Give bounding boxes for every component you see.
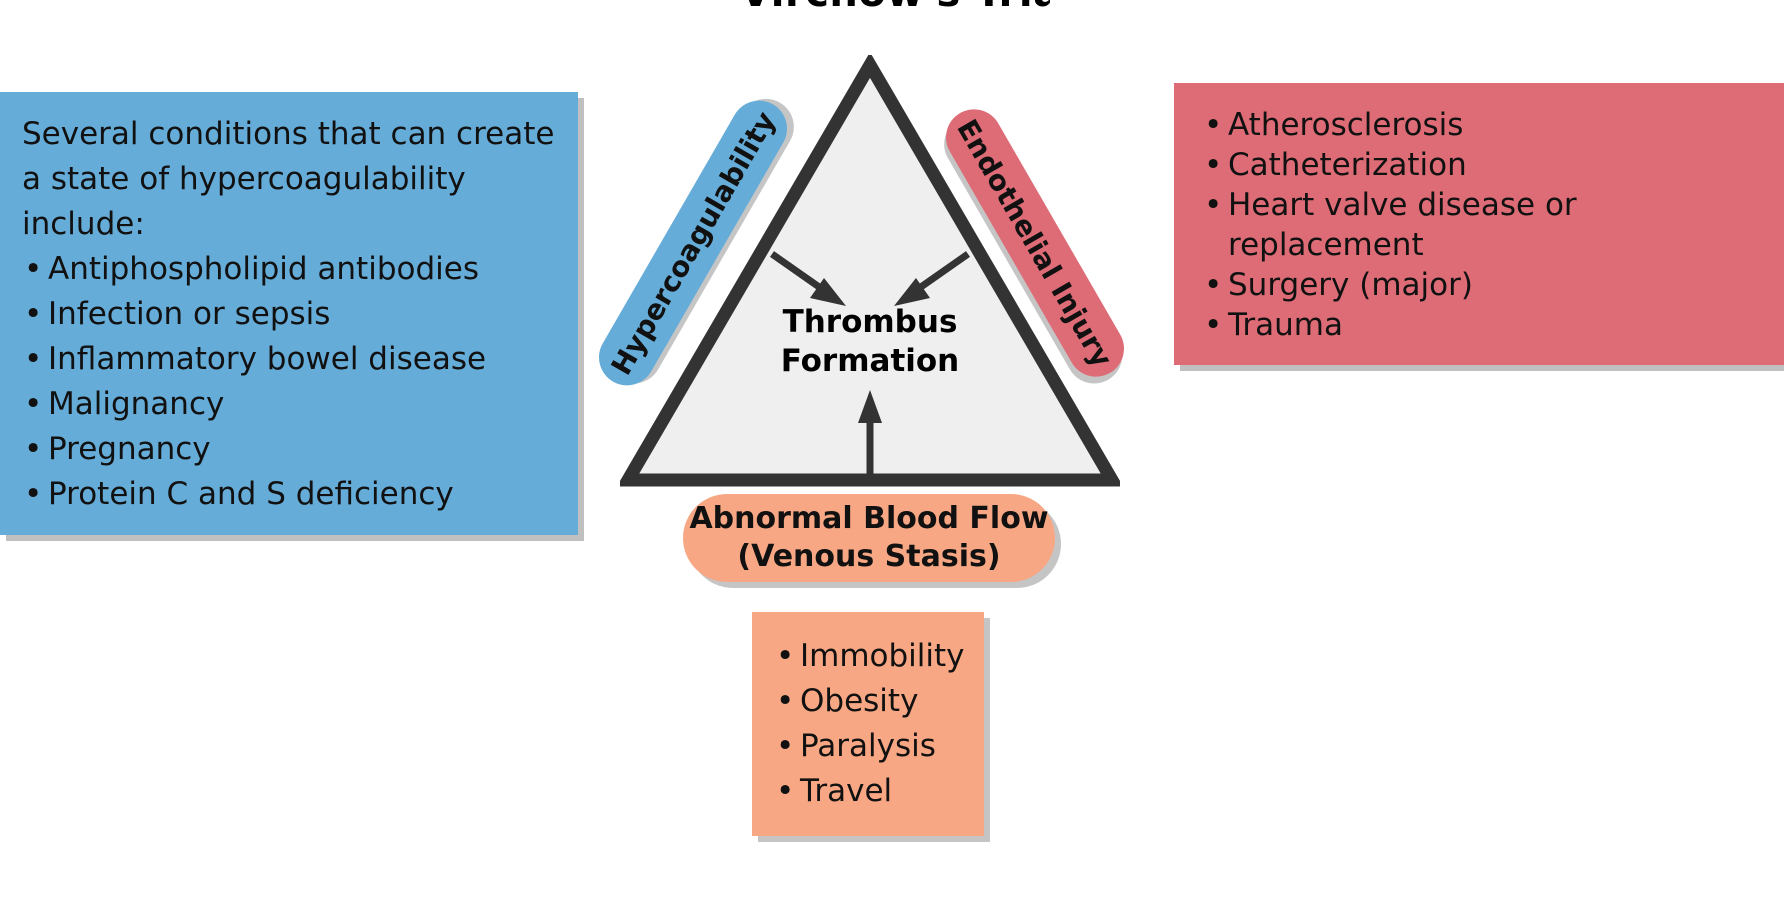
- bullet-icon: •: [1204, 305, 1222, 345]
- panel-hypercoagulability-lead: Several conditions that can create a sta…: [22, 112, 564, 247]
- list-item-label: Surgery (major): [1228, 267, 1473, 303]
- bullet-icon: •: [1204, 265, 1222, 305]
- list-item: •Heart valve disease or replacement: [1202, 185, 1770, 265]
- list-item: •Paralysis: [774, 724, 974, 769]
- list-item-label: Atherosclerosis: [1228, 107, 1463, 143]
- panel-endothelial-injury: •Atherosclerosis •Catheterization •Heart…: [1174, 83, 1784, 365]
- list-item-label: Infection or sepsis: [48, 296, 330, 332]
- list-item: •Immobility: [774, 634, 974, 679]
- list-item-label: Travel: [800, 773, 892, 809]
- list-item: •Pregnancy: [22, 427, 564, 472]
- list-item: •Malignancy: [22, 382, 564, 427]
- bullet-icon: •: [776, 769, 794, 814]
- list-item-label: Obesity: [800, 683, 918, 719]
- list-item: •Protein C and S deficiency: [22, 472, 564, 517]
- bullet-icon: •: [24, 382, 42, 427]
- bullet-icon: •: [776, 679, 794, 724]
- panel-blood-flow-list: •Immobility •Obesity •Paralysis •Travel: [774, 634, 974, 814]
- panel-endothelial-injury-list: •Atherosclerosis •Catheterization •Heart…: [1202, 105, 1770, 345]
- list-item: •Infection or sepsis: [22, 292, 564, 337]
- list-item: •Travel: [774, 769, 974, 814]
- list-item-label: Trauma: [1228, 307, 1343, 343]
- list-item: •Trauma: [1202, 305, 1770, 345]
- panel-endothelial-injury-body: •Atherosclerosis •Catheterization •Heart…: [1202, 105, 1770, 345]
- panel-hypercoagulability: Several conditions that can create a sta…: [0, 92, 578, 535]
- bullet-icon: •: [24, 337, 42, 382]
- list-item: •Inflammatory bowel disease: [22, 337, 564, 382]
- page-title: Virchow's Triad: [740, 0, 1050, 12]
- panel-blood-flow: •Immobility •Obesity •Paralysis •Travel: [752, 612, 984, 836]
- list-item-label: Immobility: [800, 638, 965, 674]
- bullet-icon: •: [776, 724, 794, 769]
- list-item-label: Antiphospholipid antibodies: [48, 251, 479, 287]
- bullet-icon: •: [1204, 145, 1222, 185]
- list-item: •Catheterization: [1202, 145, 1770, 185]
- list-item: •Atherosclerosis: [1202, 105, 1770, 145]
- list-item: •Antiphospholipid antibodies: [22, 247, 564, 292]
- bullet-icon: •: [1204, 185, 1222, 225]
- list-item-label: Heart valve disease or replacement: [1228, 187, 1577, 263]
- bullet-icon: •: [24, 292, 42, 337]
- list-item-label: Inflammatory bowel disease: [48, 341, 486, 377]
- bullet-icon: •: [24, 427, 42, 472]
- bullet-icon: •: [776, 634, 794, 679]
- thrombus-formation-label: Thrombus Formation: [720, 303, 1020, 381]
- panel-hypercoagulability-list: •Antiphospholipid antibodies •Infection …: [22, 247, 564, 517]
- bullet-icon: •: [24, 472, 42, 517]
- list-item-label: Paralysis: [800, 728, 936, 764]
- bullet-icon: •: [24, 247, 42, 292]
- list-item-label: Pregnancy: [48, 431, 211, 467]
- list-item: •Obesity: [774, 679, 974, 724]
- list-item: •Surgery (major): [1202, 265, 1770, 305]
- label-abnormal-blood-flow: Abnormal Blood Flow (Venous Stasis): [683, 494, 1055, 582]
- list-item-label: Catheterization: [1228, 147, 1467, 183]
- bullet-icon: •: [1204, 105, 1222, 145]
- list-item-label: Malignancy: [48, 386, 224, 422]
- list-item-label: Protein C and S deficiency: [48, 476, 454, 512]
- panel-hypercoagulability-body: Several conditions that can create a sta…: [22, 112, 564, 517]
- diagram-canvas: Virchow's Triad Several conditions that …: [0, 0, 1784, 915]
